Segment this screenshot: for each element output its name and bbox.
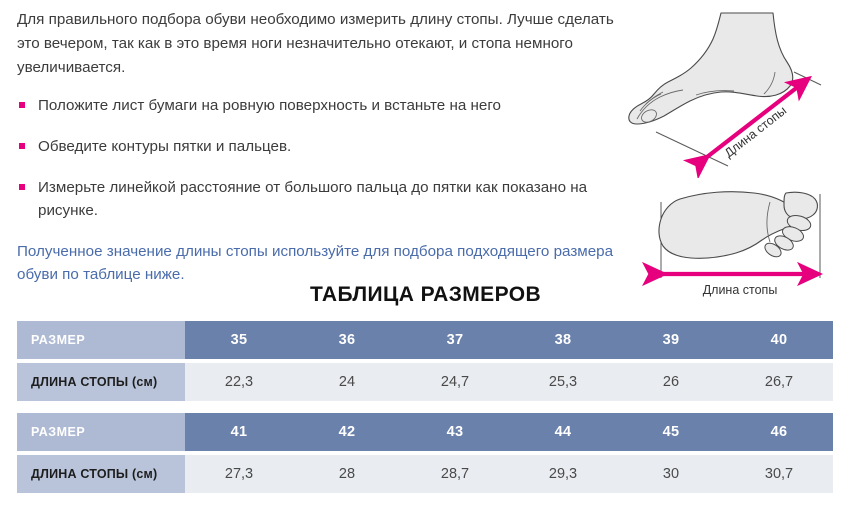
list-item: Положите лист бумаги на ровную поверхнос…: [17, 94, 617, 117]
size-cell: 45: [617, 413, 725, 451]
instructions-panel: Для правильного подбора обуви необходимо…: [17, 8, 617, 286]
length-cell: 28,7: [401, 455, 509, 493]
bullet-square-icon: [19, 143, 25, 149]
size-cell: 36: [293, 321, 401, 359]
size-cell: 46: [725, 413, 833, 451]
length-cell: 26,7: [725, 363, 833, 401]
length-cell: 30,7: [725, 455, 833, 493]
intro-paragraph: Для правильного подбора обуви необходимо…: [17, 8, 617, 80]
steps-list: Положите лист бумаги на ровную поверхнос…: [17, 94, 617, 222]
step-text: Обведите контуры пятки и пальцев.: [38, 138, 291, 155]
size-cell: 42: [293, 413, 401, 451]
size-cell: 35: [185, 321, 293, 359]
row-header-length: ДЛИНА СТОПЫ (см): [17, 363, 185, 401]
side-view-measure-label: Длина стопы: [722, 103, 789, 160]
sole-silhouette: [659, 192, 818, 260]
note-text: Полученное значение длины стопы использу…: [17, 240, 617, 286]
length-cell: 24,7: [401, 363, 509, 401]
length-cell: 24: [293, 363, 401, 401]
length-cell: 29,3: [509, 455, 617, 493]
foot-side-view-illustration: Длина стопы: [618, 0, 851, 178]
table-row-sizes: РАЗМЕР 35 36 37 38 39 40: [17, 321, 833, 359]
size-cell: 39: [617, 321, 725, 359]
bullet-square-icon: [19, 184, 25, 190]
length-cell: 26: [617, 363, 725, 401]
step-text: Измерьте линейкой расстояние от большого…: [38, 179, 587, 219]
size-cell: 40: [725, 321, 833, 359]
step-text: Положите лист бумаги на ровную поверхнос…: [38, 97, 501, 114]
size-cell: 44: [509, 413, 617, 451]
list-item: Обведите контуры пятки и пальцев.: [17, 135, 617, 158]
page-title: ТАБЛИЦА РАЗМЕРОВ: [0, 283, 851, 307]
bullet-square-icon: [19, 102, 25, 108]
length-cell: 27,3: [185, 455, 293, 493]
length-cell: 22,3: [185, 363, 293, 401]
row-header-size: РАЗМЕР: [17, 413, 185, 451]
length-cell: 25,3: [509, 363, 617, 401]
length-cell: 30: [617, 455, 725, 493]
list-item: Измерьте линейкой расстояние от большого…: [17, 176, 617, 222]
row-header-length: ДЛИНА СТОПЫ (см): [17, 455, 185, 493]
table-row-sizes: РАЗМЕР 41 42 43 44 45 46: [17, 413, 833, 451]
row-header-size: РАЗМЕР: [17, 321, 185, 359]
length-cell: 28: [293, 455, 401, 493]
size-cell: 37: [401, 321, 509, 359]
size-cell: 41: [185, 413, 293, 451]
size-cell: 43: [401, 413, 509, 451]
size-cell: 38: [509, 321, 617, 359]
table-row-lengths: ДЛИНА СТОПЫ (см) 27,3 28 28,7 29,3 30 30…: [17, 455, 833, 493]
foot-illustrations: Длина стопы: [618, 0, 851, 312]
size-table-2: РАЗМЕР 41 42 43 44 45 46 ДЛИНА СТОПЫ (см…: [17, 413, 833, 493]
size-table-1: РАЗМЕР 35 36 37 38 39 40 ДЛИНА СТОПЫ (см…: [17, 321, 833, 401]
table-row-lengths: ДЛИНА СТОПЫ (см) 22,3 24 24,7 25,3 26 26…: [17, 363, 833, 401]
